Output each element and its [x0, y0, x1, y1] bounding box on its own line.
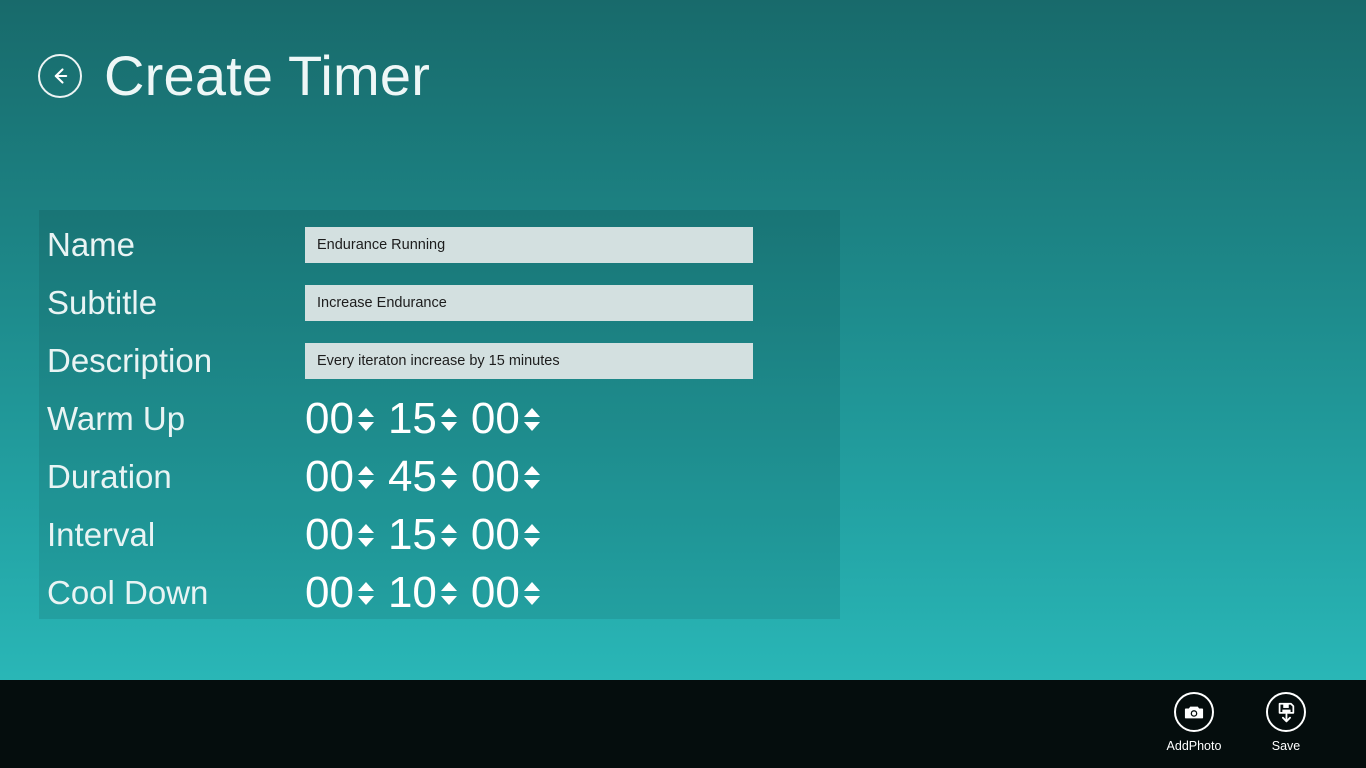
- warm-up-minutes: 15: [388, 397, 457, 441]
- label-duration: Duration: [47, 460, 305, 495]
- chevron-down-icon[interactable]: [441, 480, 457, 489]
- chevron-up-icon[interactable]: [441, 408, 457, 417]
- warm-up-seconds-value: 00: [471, 397, 520, 441]
- bottom-app-bar: AddPhoto Save: [0, 680, 1366, 768]
- duration-seconds-stepper[interactable]: [524, 466, 540, 489]
- label-interval: Interval: [47, 518, 305, 553]
- chevron-down-icon[interactable]: [358, 422, 374, 431]
- back-arrow-icon: [48, 64, 72, 88]
- chevron-up-icon[interactable]: [358, 582, 374, 591]
- subtitle-input[interactable]: [305, 285, 753, 321]
- chevron-up-icon[interactable]: [524, 466, 540, 475]
- form-row-name: Name: [39, 216, 840, 274]
- warm-up-seconds: 00: [471, 397, 540, 441]
- chevron-up-icon[interactable]: [358, 524, 374, 533]
- cool-down-seconds-value: 00: [471, 571, 520, 615]
- chevron-down-icon[interactable]: [358, 480, 374, 489]
- chevron-up-icon[interactable]: [524, 408, 540, 417]
- name-input[interactable]: [305, 227, 753, 263]
- form-row-interval: Interval 00 15 00: [39, 506, 840, 564]
- duration-hours-stepper[interactable]: [358, 466, 374, 489]
- save-button[interactable]: Save: [1240, 692, 1332, 753]
- warm-up-minutes-stepper[interactable]: [441, 408, 457, 431]
- warm-up-hours-value: 00: [305, 397, 354, 441]
- form-row-subtitle: Subtitle: [39, 274, 840, 332]
- chevron-up-icon[interactable]: [441, 582, 457, 591]
- cool-down-seconds: 00: [471, 571, 540, 615]
- save-icon: [1266, 692, 1306, 732]
- cool-down-hours-stepper[interactable]: [358, 582, 374, 605]
- duration-seconds: 00: [471, 455, 540, 499]
- warm-up-minutes-value: 15: [388, 397, 437, 441]
- description-input[interactable]: [305, 343, 753, 379]
- label-description: Description: [47, 344, 305, 379]
- warm-up-time-group: 00 15 00: [305, 393, 540, 445]
- duration-hours-value: 00: [305, 455, 354, 499]
- chevron-down-icon[interactable]: [358, 538, 374, 547]
- duration-minutes-stepper[interactable]: [441, 466, 457, 489]
- chevron-down-icon[interactable]: [524, 480, 540, 489]
- cool-down-minutes-value: 10: [388, 571, 437, 615]
- label-warm-up: Warm Up: [47, 402, 305, 437]
- duration-time-group: 00 45 00: [305, 451, 540, 503]
- timer-form-panel: Name Subtitle Description Warm Up 00: [39, 210, 840, 619]
- page-header: Create Timer: [38, 48, 430, 104]
- label-subtitle: Subtitle: [47, 286, 305, 321]
- chevron-down-icon[interactable]: [524, 538, 540, 547]
- chevron-down-icon[interactable]: [524, 596, 540, 605]
- form-row-cool-down: Cool Down 00 10 00: [39, 564, 840, 622]
- duration-seconds-value: 00: [471, 455, 520, 499]
- interval-seconds-stepper[interactable]: [524, 524, 540, 547]
- interval-hours-stepper[interactable]: [358, 524, 374, 547]
- chevron-up-icon[interactable]: [524, 582, 540, 591]
- back-button[interactable]: [38, 54, 82, 98]
- chevron-down-icon[interactable]: [441, 422, 457, 431]
- interval-time-group: 00 15 00: [305, 509, 540, 561]
- create-timer-screen: Create Timer Name Subtitle Description W…: [0, 0, 1366, 768]
- label-name: Name: [47, 228, 305, 263]
- add-photo-label: AddPhoto: [1167, 740, 1222, 753]
- chevron-up-icon[interactable]: [524, 524, 540, 533]
- cool-down-minutes-stepper[interactable]: [441, 582, 457, 605]
- camera-icon: [1174, 692, 1214, 732]
- cool-down-hours-value: 00: [305, 571, 354, 615]
- interval-minutes: 15: [388, 513, 457, 557]
- chevron-down-icon[interactable]: [441, 538, 457, 547]
- page-title: Create Timer: [104, 48, 430, 104]
- chevron-up-icon[interactable]: [441, 524, 457, 533]
- form-row-warm-up: Warm Up 00 15 00: [39, 390, 840, 448]
- warm-up-hours-stepper[interactable]: [358, 408, 374, 431]
- chevron-up-icon[interactable]: [358, 408, 374, 417]
- chevron-down-icon[interactable]: [441, 596, 457, 605]
- label-cool-down: Cool Down: [47, 576, 305, 611]
- save-label: Save: [1272, 740, 1301, 753]
- chevron-up-icon[interactable]: [358, 466, 374, 475]
- cool-down-hours: 00: [305, 571, 374, 615]
- add-photo-button[interactable]: AddPhoto: [1148, 692, 1240, 753]
- form-row-description: Description: [39, 332, 840, 390]
- cool-down-seconds-stepper[interactable]: [524, 582, 540, 605]
- duration-minutes-value: 45: [388, 455, 437, 499]
- interval-minutes-stepper[interactable]: [441, 524, 457, 547]
- duration-hours: 00: [305, 455, 374, 499]
- warm-up-hours: 00: [305, 397, 374, 441]
- chevron-down-icon[interactable]: [524, 422, 540, 431]
- interval-minutes-value: 15: [388, 513, 437, 557]
- interval-hours-value: 00: [305, 513, 354, 557]
- form-row-duration: Duration 00 45 00: [39, 448, 840, 506]
- warm-up-seconds-stepper[interactable]: [524, 408, 540, 431]
- chevron-up-icon[interactable]: [441, 466, 457, 475]
- cool-down-minutes: 10: [388, 571, 457, 615]
- interval-seconds: 00: [471, 513, 540, 557]
- interval-seconds-value: 00: [471, 513, 520, 557]
- cool-down-time-group: 00 10 00: [305, 567, 540, 619]
- chevron-down-icon[interactable]: [358, 596, 374, 605]
- interval-hours: 00: [305, 513, 374, 557]
- duration-minutes: 45: [388, 455, 457, 499]
